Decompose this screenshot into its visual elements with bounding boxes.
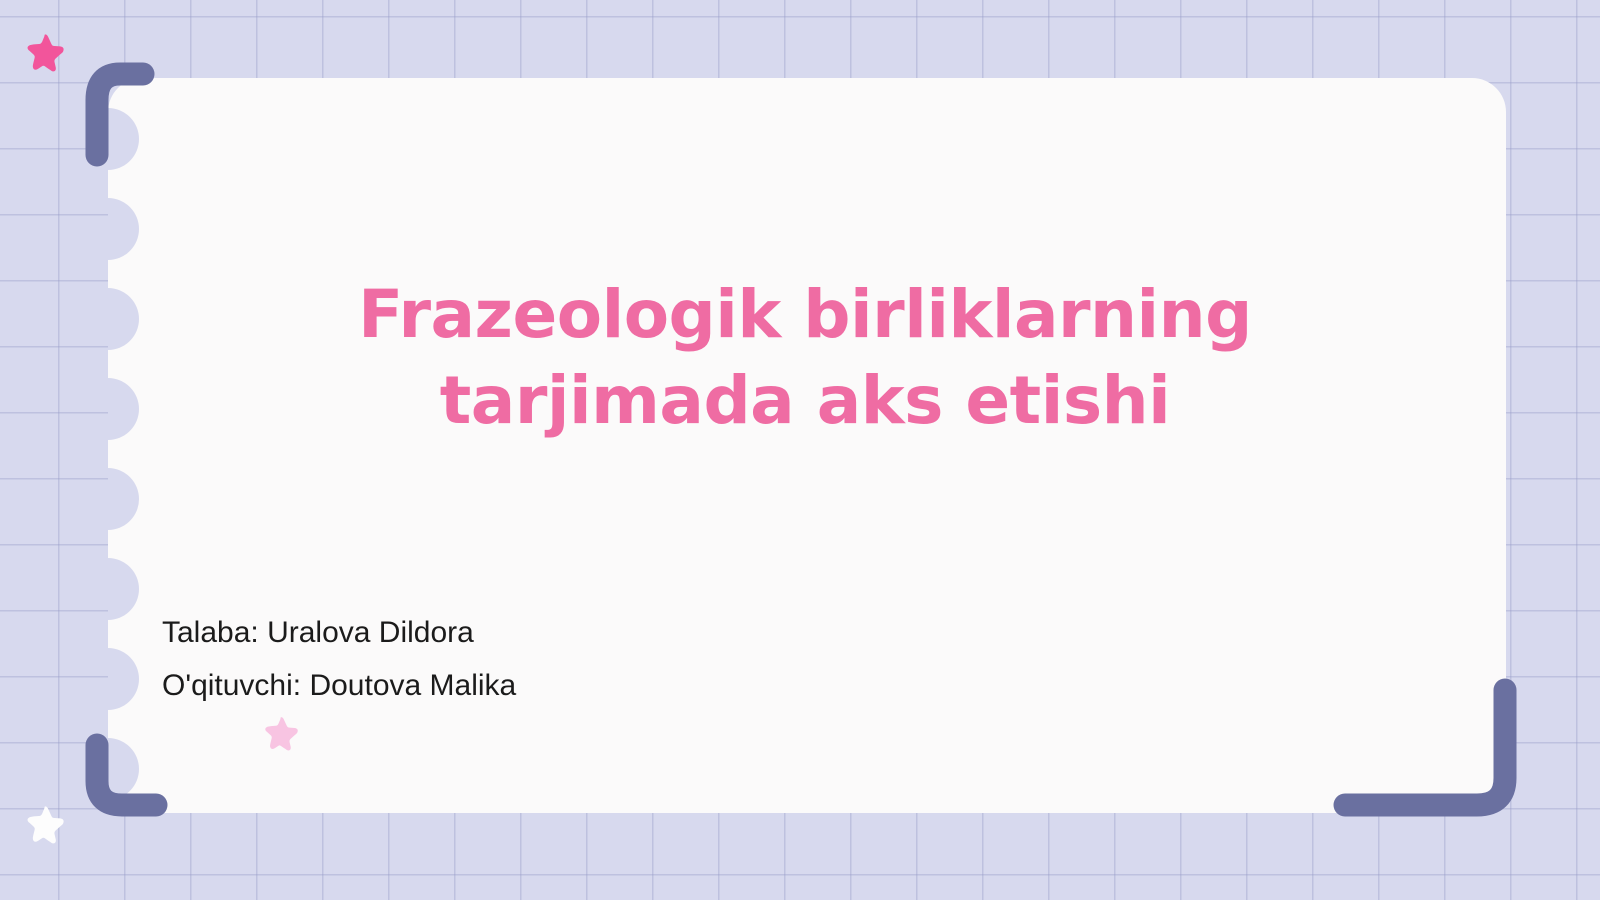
student-name: Talaba: Uralova Dildora	[162, 606, 516, 659]
slide-title: Frazeologik birliklarning tarjimada aks …	[270, 272, 1340, 444]
title-line-2: tarjimada aks etishi	[270, 358, 1340, 444]
star-icon-bottom-left	[25, 804, 65, 844]
teacher-name: O'qituvchi: Doutova Malika	[162, 659, 516, 712]
star-icon-top-left	[25, 32, 65, 72]
presentation-slide: Frazeologik birliklarning tarjimada aks …	[0, 0, 1600, 900]
credits-block: Talaba: Uralova Dildora O'qituvchi: Dout…	[162, 606, 516, 712]
corner-bracket-bottom-right	[1325, 660, 1525, 835]
corner-bracket-top-left	[80, 60, 170, 170]
star-icon-lower-middle	[263, 715, 299, 751]
title-line-1: Frazeologik birliklarning	[270, 272, 1340, 358]
corner-bracket-bottom-left	[80, 725, 190, 825]
